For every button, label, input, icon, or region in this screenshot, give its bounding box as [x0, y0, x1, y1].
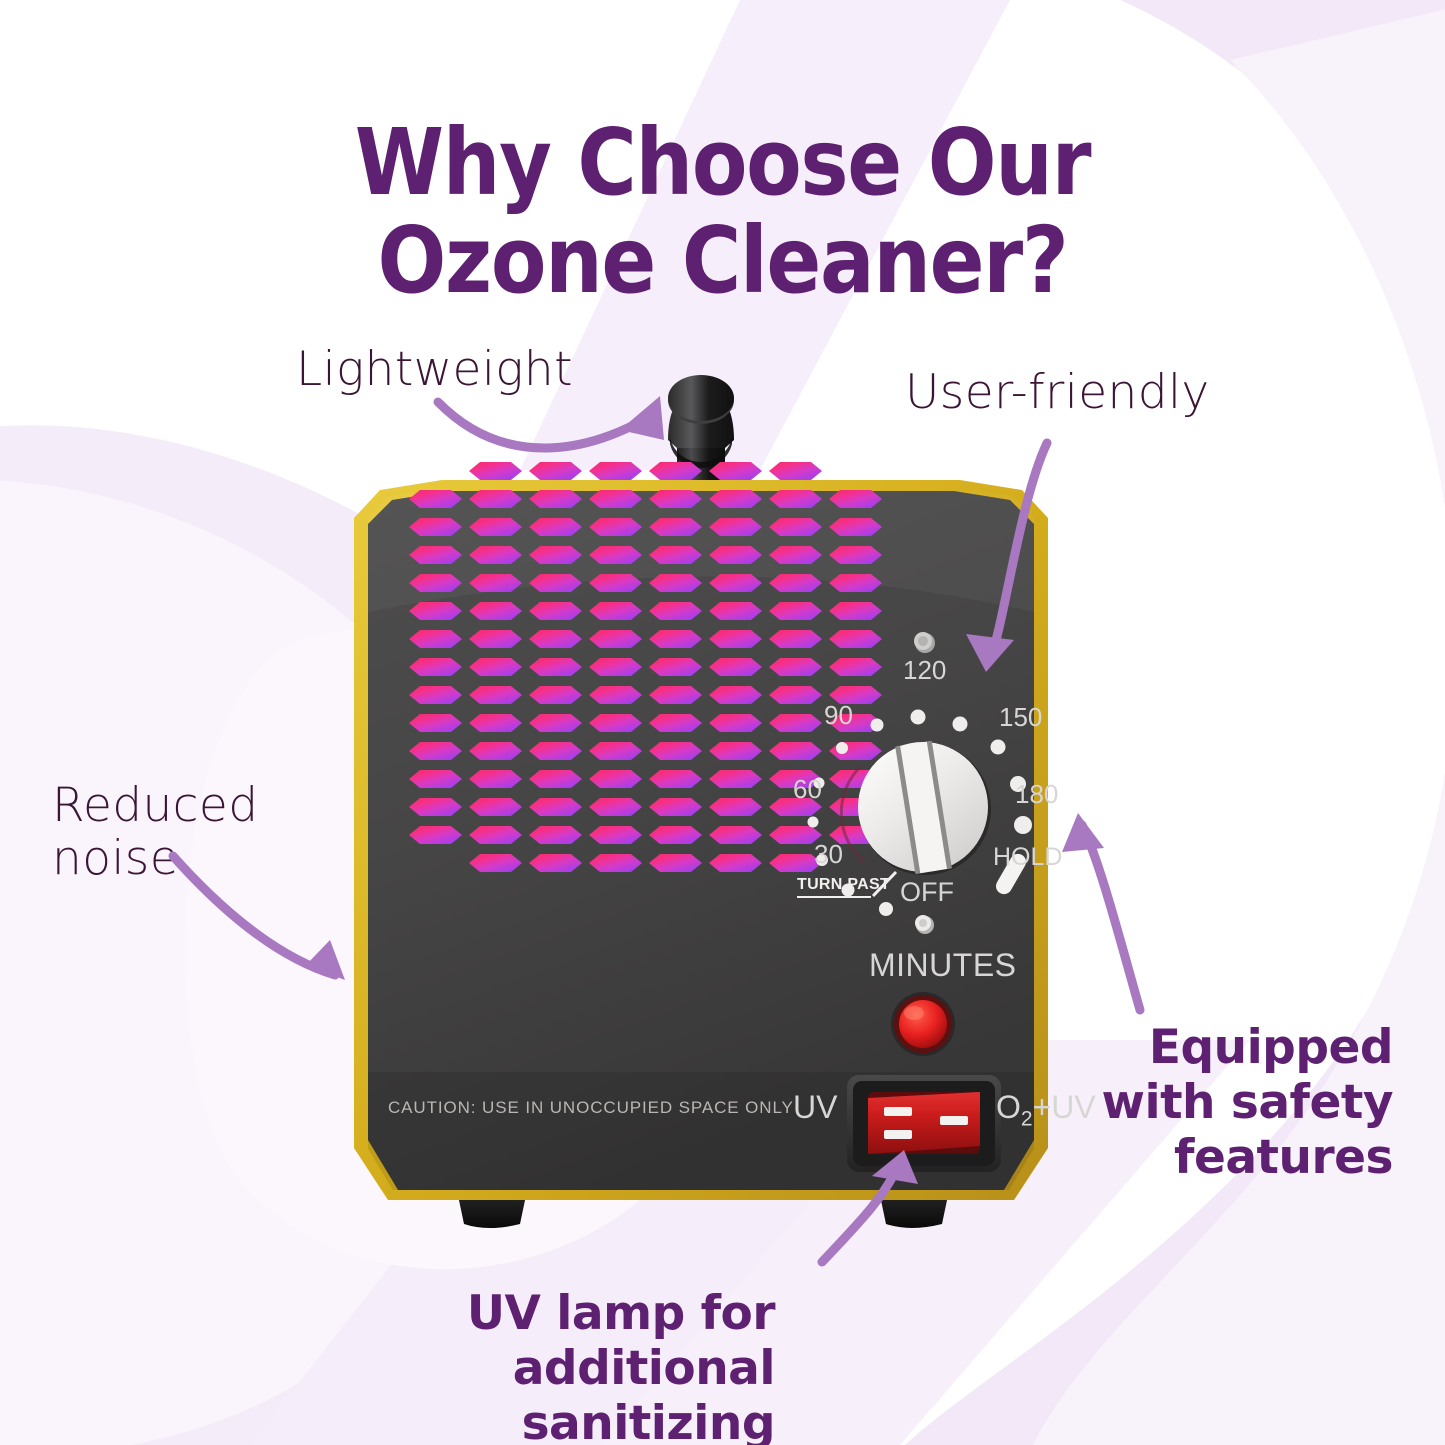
o2-o: O: [996, 1089, 1021, 1125]
ozone-cleaner-device: 120 90 150 60 180 30 HOLD OFF TURN PAST …: [296, 312, 1106, 1272]
page-title-line1: Why Choose Our: [355, 109, 1090, 216]
turn-past-text: TURN PAST: [797, 876, 890, 893]
callout-label-safety: Equipped with safety features: [1093, 1020, 1393, 1185]
dial-label-180: 180: [1015, 779, 1058, 810]
callout-label-uv-lamp: UV lamp for additional sanitizing: [275, 1286, 775, 1445]
dial-label-30: 30: [814, 839, 843, 870]
o2-subscript: 2: [1021, 1107, 1033, 1130]
infographic-canvas: Why Choose Our Ozone Cleaner? Lightweigh…: [0, 0, 1445, 1445]
dial-unit-label: MINUTES: [869, 947, 1017, 984]
dial-label-150: 150: [999, 702, 1042, 733]
dial-label-off: OFF: [900, 877, 954, 908]
dial-label-120: 120: [903, 655, 946, 686]
o2-tail: +UV: [1033, 1089, 1096, 1125]
page-title: Why Choose Our Ozone Cleaner?: [87, 114, 1359, 311]
power-indicator-led[interactable]: [891, 992, 955, 1056]
callout-label-user-friendly: User-friendly: [905, 365, 1210, 420]
mode-rocker-switch[interactable]: [847, 1075, 1001, 1172]
dial-label-hold: HOLD: [993, 843, 1062, 872]
turn-past-underline: [797, 896, 871, 898]
switch-label-uv: UV: [793, 1089, 837, 1126]
switch-label-o2-uv: O2+UV: [996, 1089, 1096, 1131]
callout-label-lightweight: Lightweight: [296, 342, 573, 397]
callout-label-reduced-noise: Reduced noise: [52, 780, 312, 885]
dial-label-90: 90: [824, 700, 853, 731]
page-title-line2: Ozone Cleaner?: [87, 212, 1359, 310]
caution-text: CAUTION: USE IN UNOCCUPIED SPACE ONLY: [388, 1098, 794, 1118]
dial-label-60: 60: [793, 774, 822, 805]
dial-label-turn-past: TURN PAST: [797, 876, 890, 898]
